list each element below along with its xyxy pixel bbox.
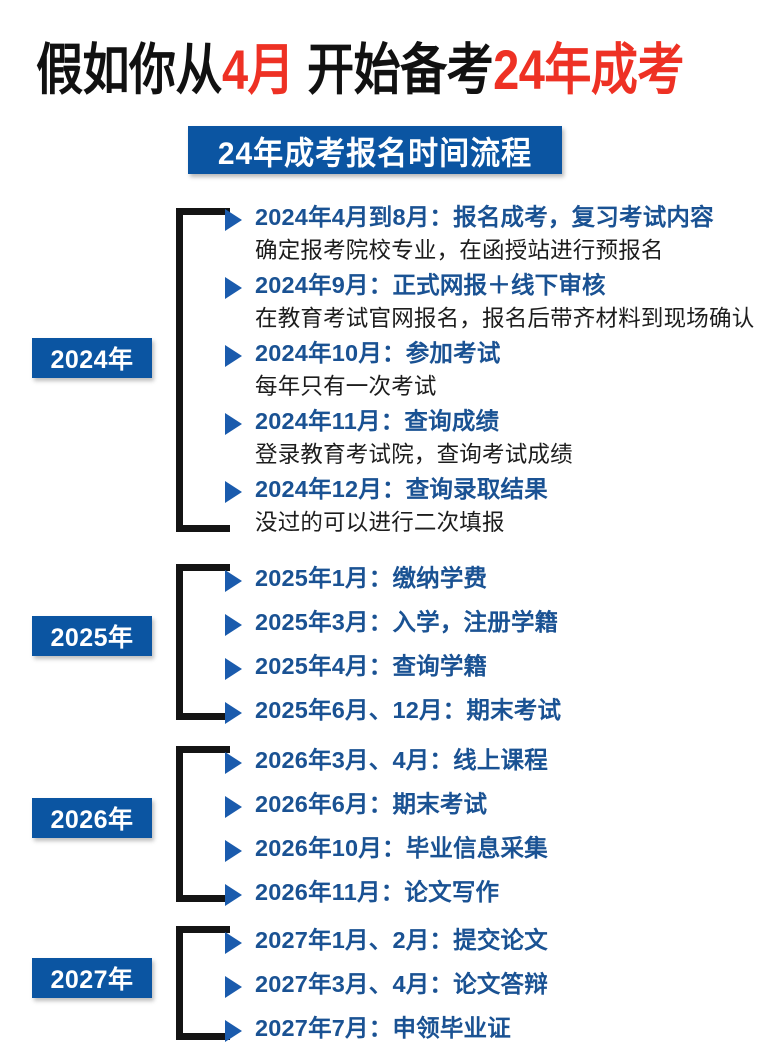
timeline-items-2026: 2026年3月、4月：线上课程 2026年6月：期末考试 2026年10月：毕业… xyxy=(221,738,780,914)
timeline-item-head: 2027年7月：申领毕业证 xyxy=(255,1006,780,1050)
title-segment-3: 开始备考 xyxy=(307,41,493,96)
timeline-item-head: 2025年3月：入学，注册学籍 xyxy=(255,600,780,644)
title-segment-4: 24年成考 xyxy=(493,41,684,96)
timeline-item[interactable]: 2026年10月：毕业信息采集 xyxy=(221,826,780,870)
timeline-item[interactable]: 2024年11月：查询成绩 xyxy=(221,404,780,438)
timeline-item-head: 2027年1月、2月：提交论文 xyxy=(255,918,780,962)
timeline-item-head: 2024年12月：查询录取结果 xyxy=(255,472,780,506)
timeline-item-head: 2025年6月、12月：期末考试 xyxy=(255,688,780,732)
timeline-items-2024: 2024年4月到8月：报名成考，复习考试内容 确定报考院校专业，在函授站进行预报… xyxy=(221,200,780,540)
triangle-bullet-icon xyxy=(225,209,242,231)
page-title: 假如你从4月开始备考24年成考 xyxy=(36,36,752,102)
banner: 24年成考报名时间流程 xyxy=(188,126,562,174)
timeline-items-2025: 2025年1月：缴纳学费 2025年3月：入学，注册学籍 2025年4月：查询学… xyxy=(221,556,780,732)
timeline-item-head: 2026年11月：论文写作 xyxy=(255,870,780,914)
timeline-item-head: 2026年10月：毕业信息采集 xyxy=(255,826,780,870)
triangle-bullet-icon xyxy=(225,345,242,367)
triangle-bullet-icon xyxy=(225,614,242,636)
timeline-item-head: 2024年9月：正式网报＋线下审核 xyxy=(255,268,780,302)
timeline-item[interactable]: 2025年1月：缴纳学费 xyxy=(221,556,780,600)
timeline-item-head: 2027年3月、4月：论文答辩 xyxy=(255,962,780,1006)
timeline-item[interactable]: 2026年11月：论文写作 xyxy=(221,870,780,914)
timeline-item-sub: 确定报考院校专业，在函授站进行预报名 xyxy=(221,234,780,268)
timeline-item-head: 2025年1月：缴纳学费 xyxy=(255,556,780,600)
timeline-item-sub: 没过的可以进行二次填报 xyxy=(221,506,780,540)
timeline-item[interactable]: 2024年12月：查询录取结果 xyxy=(221,472,780,506)
timeline-item-head: 2024年10月：参加考试 xyxy=(255,336,780,370)
triangle-bullet-icon xyxy=(225,932,242,954)
timeline-item-sub: 每年只有一次考试 xyxy=(221,370,780,404)
timeline-item[interactable]: 2026年3月、4月：线上课程 xyxy=(221,738,780,782)
triangle-bullet-icon xyxy=(225,1020,242,1042)
timeline-item[interactable]: 2025年3月：入学，注册学籍 xyxy=(221,600,780,644)
triangle-bullet-icon xyxy=(225,277,242,299)
timeline-item[interactable]: 2027年7月：申领毕业证 xyxy=(221,1006,780,1050)
timeline-item[interactable]: 2024年10月：参加考试 xyxy=(221,336,780,370)
triangle-bullet-icon xyxy=(225,884,242,906)
triangle-bullet-icon xyxy=(225,840,242,862)
triangle-bullet-icon xyxy=(225,658,242,680)
timeline-item[interactable]: 2027年3月、4月：论文答辩 xyxy=(221,962,780,1006)
timeline-item[interactable]: 2027年1月、2月：提交论文 xyxy=(221,918,780,962)
triangle-bullet-icon xyxy=(225,481,242,503)
year-tag-2026: 2026年 xyxy=(32,798,152,838)
timeline-item-head: 2025年4月：查询学籍 xyxy=(255,644,780,688)
year-tag-2027: 2027年 xyxy=(32,958,152,998)
timeline-item-sub: 登录教育考试院，查询考试成绩 xyxy=(221,438,780,472)
year-tag-2025: 2025年 xyxy=(32,616,152,656)
timeline-item-sub: 在教育考试官网报名，报名后带齐材料到现场确认 xyxy=(221,302,780,336)
timeline-item-head: 2024年11月：查询成绩 xyxy=(255,404,780,438)
triangle-bullet-icon xyxy=(225,976,242,998)
triangle-bullet-icon xyxy=(225,752,242,774)
year-tag-2024: 2024年 xyxy=(32,338,152,378)
timeline-item-head: 2026年3月、4月：线上课程 xyxy=(255,738,780,782)
triangle-bullet-icon xyxy=(225,796,242,818)
timeline-item[interactable]: 2024年9月：正式网报＋线下审核 xyxy=(221,268,780,302)
title-segment-1: 假如你从 xyxy=(36,41,222,96)
timeline-item[interactable]: 2024年4月到8月：报名成考，复习考试内容 xyxy=(221,200,780,234)
triangle-bullet-icon xyxy=(225,413,242,435)
timeline-item[interactable]: 2025年6月、12月：期末考试 xyxy=(221,688,780,732)
timeline-item[interactable]: 2025年4月：查询学籍 xyxy=(221,644,780,688)
timeline-item-head: 2026年6月：期末考试 xyxy=(255,782,780,826)
triangle-bullet-icon xyxy=(225,570,242,592)
timeline-item[interactable]: 2026年6月：期末考试 xyxy=(221,782,780,826)
title-segment-2: 4月 xyxy=(222,41,294,96)
timeline-items-2027: 2027年1月、2月：提交论文 2027年3月、4月：论文答辩 2027年7月：… xyxy=(221,918,780,1050)
timeline-item-head: 2024年4月到8月：报名成考，复习考试内容 xyxy=(255,200,780,234)
triangle-bullet-icon xyxy=(225,702,242,724)
banner-title: 24年成考报名时间流程 xyxy=(218,127,532,174)
